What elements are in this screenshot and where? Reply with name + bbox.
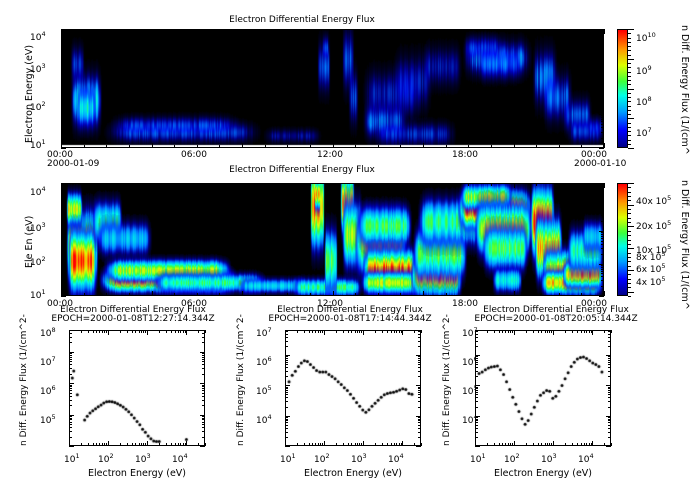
axis-tick — [418, 346, 421, 347]
axis-tick — [324, 441, 325, 446]
axis-tick — [601, 265, 604, 266]
axis-tick — [202, 374, 205, 375]
axis-tick — [61, 276, 64, 277]
axis-tick — [285, 356, 288, 357]
axis-tick — [382, 443, 383, 446]
axis-tick — [601, 215, 604, 216]
axis-tick — [69, 446, 74, 447]
axis-tick — [61, 244, 64, 245]
axis-tick — [475, 419, 478, 420]
axis-tick — [586, 443, 587, 446]
axis-tick — [61, 45, 66, 46]
axis-tick — [608, 394, 611, 395]
axis-tick — [285, 358, 288, 359]
spec2-ytick-1: 101 — [30, 288, 46, 301]
axis-tick — [333, 29, 334, 34]
spec2-cbtick-4: 4x 105 — [636, 275, 666, 288]
axis-tick — [491, 145, 492, 148]
axis-tick — [61, 280, 64, 281]
axis-tick — [581, 443, 582, 446]
colorbar-tick — [628, 67, 631, 68]
line3-xlabel: Electron Energy (eV) — [475, 468, 611, 479]
line2-ylabel: n Diff. Energy Flux (1/(cm^2- — [236, 314, 246, 446]
axis-tick — [505, 330, 506, 333]
axis-tick — [608, 420, 611, 421]
axis-tick — [61, 132, 64, 133]
axis-tick — [581, 29, 582, 32]
axis-tick — [159, 330, 160, 333]
axis-tick — [475, 346, 478, 347]
axis-tick — [61, 127, 64, 128]
axis-tick — [69, 374, 72, 375]
axis-tick — [69, 337, 72, 338]
axis-tick — [285, 397, 288, 398]
axis-tick — [514, 29, 515, 34]
colorbar-tick — [628, 296, 631, 297]
axis-tick — [601, 206, 604, 207]
axis-tick — [202, 357, 205, 358]
axis-tick — [592, 441, 593, 446]
axis-tick — [69, 342, 72, 343]
line3-ylabel: n Diff. Energy Flux (1/(cm^2- — [442, 314, 452, 446]
axis-tick — [343, 330, 344, 333]
axis-tick — [69, 416, 72, 417]
axis-tick — [61, 254, 64, 255]
axis-tick — [589, 443, 590, 446]
axis-tick — [61, 269, 64, 270]
axis-tick — [423, 29, 424, 34]
axis-tick — [475, 437, 478, 438]
colorbar-tick — [628, 110, 631, 111]
axis-tick — [391, 443, 392, 446]
axis-tick — [611, 443, 612, 446]
axis-tick — [399, 443, 400, 446]
axis-tick — [318, 443, 319, 446]
axis-tick — [601, 85, 604, 86]
axis-tick — [545, 443, 546, 446]
axis-tick — [343, 443, 344, 446]
axis-tick — [285, 346, 288, 347]
axis-tick — [608, 432, 611, 433]
line1-ytick-7: 107 — [40, 355, 56, 368]
axis-tick — [61, 53, 64, 54]
axis-tick — [183, 330, 184, 333]
axis-tick — [285, 441, 286, 446]
axis-tick — [120, 330, 121, 333]
axis-tick — [285, 420, 288, 421]
axis-tick — [69, 393, 72, 394]
axis-tick — [601, 121, 604, 122]
spec1-plot-area[interactable] — [61, 29, 604, 148]
axis-tick — [61, 208, 64, 209]
axis-tick — [285, 390, 288, 391]
axis-tick — [61, 231, 66, 232]
axis-tick — [61, 81, 64, 82]
axis-tick — [601, 221, 604, 222]
axis-tick — [69, 352, 74, 353]
axis-tick — [572, 330, 573, 333]
axis-tick — [108, 441, 109, 446]
colorbar-tick — [628, 270, 634, 271]
axis-tick — [475, 420, 478, 421]
axis-tick — [601, 211, 604, 212]
axis-tick — [608, 341, 611, 342]
axis-tick — [601, 119, 604, 120]
axis-tick — [601, 234, 604, 235]
axis-tick — [178, 330, 179, 333]
axis-tick — [348, 330, 349, 333]
axis-tick — [159, 443, 160, 446]
axis-tick — [601, 35, 604, 36]
axis-tick — [475, 367, 478, 368]
axis-tick — [468, 29, 469, 32]
axis-tick — [102, 330, 103, 333]
axis-tick — [601, 241, 604, 242]
axis-tick — [418, 420, 421, 421]
axis-tick — [475, 407, 478, 408]
axis-tick — [61, 204, 64, 205]
axis-tick — [396, 443, 397, 446]
axis-tick — [285, 432, 288, 433]
axis-tick — [475, 341, 478, 342]
colorbar-tick — [628, 114, 631, 115]
axis-tick — [287, 293, 288, 296]
axis-tick — [61, 286, 64, 287]
axis-tick — [84, 183, 85, 186]
axis-tick — [608, 358, 611, 359]
axis-tick — [559, 293, 560, 296]
colorbar-tick — [628, 42, 631, 43]
spec2-cbtick-20: 20x 105 — [636, 219, 671, 232]
line2-xtick-2: 102 — [314, 452, 330, 465]
axis-tick — [106, 293, 107, 296]
axis-tick — [396, 330, 397, 333]
axis-tick — [584, 330, 585, 333]
colorbar-tick — [628, 235, 631, 236]
axis-tick — [547, 443, 548, 446]
axis-tick — [61, 211, 64, 212]
axis-tick — [355, 145, 356, 148]
axis-tick — [541, 330, 542, 333]
axis-tick — [61, 183, 62, 188]
axis-tick — [106, 29, 107, 32]
axis-tick — [96, 330, 97, 333]
axis-tick — [183, 443, 184, 446]
axis-tick — [285, 437, 288, 438]
axis-tick — [475, 392, 478, 393]
axis-tick — [61, 238, 64, 239]
axis-tick — [355, 443, 356, 446]
axis-tick — [418, 371, 421, 372]
axis-tick — [475, 358, 478, 359]
axis-tick — [106, 145, 107, 148]
axis-tick — [285, 401, 288, 402]
axis-tick — [180, 330, 181, 333]
axis-tick — [265, 145, 266, 148]
axis-tick — [608, 376, 611, 377]
axis-tick — [336, 443, 337, 446]
axis-tick — [202, 364, 205, 365]
axis-tick — [61, 200, 64, 201]
axis-tick — [61, 189, 64, 190]
axis-tick — [601, 276, 604, 277]
axis-tick — [202, 359, 205, 360]
axis-tick — [200, 446, 205, 447]
axis-tick — [487, 330, 488, 333]
axis-tick — [242, 29, 243, 34]
line3-xtick-4: 104 — [578, 452, 594, 465]
axis-tick — [69, 400, 72, 401]
axis-tick — [242, 291, 243, 296]
line3-subtitle: EPOCH=2000-01-08T20:05:14.344Z — [461, 314, 651, 324]
axis-tick — [608, 367, 611, 368]
axis-tick — [601, 59, 604, 60]
axis-tick — [475, 401, 478, 402]
axis-tick — [418, 376, 421, 377]
axis-tick — [61, 59, 64, 60]
axis-tick — [601, 132, 604, 133]
axis-tick — [69, 386, 72, 387]
axis-tick — [152, 291, 153, 296]
axis-tick — [601, 200, 604, 201]
axis-tick — [186, 441, 187, 446]
axis-tick — [355, 29, 356, 32]
axis-tick — [549, 443, 550, 446]
axis-tick — [69, 364, 72, 365]
axis-tick — [608, 428, 611, 429]
axis-tick — [202, 333, 205, 334]
axis-tick — [69, 415, 74, 416]
axis-tick — [61, 265, 64, 266]
axis-tick — [475, 397, 478, 398]
colorbar-tick — [628, 266, 631, 267]
axis-tick — [61, 63, 64, 64]
axis-tick — [418, 419, 421, 420]
axis-tick — [219, 183, 220, 186]
line1-subtitle: EPOCH=2000-01-08T12:27:14.344Z — [38, 314, 228, 324]
axis-tick — [147, 441, 148, 446]
axis-tick — [285, 416, 290, 417]
axis-tick — [599, 45, 604, 46]
axis-tick — [285, 341, 288, 342]
axis-tick — [61, 29, 62, 34]
axis-tick — [108, 330, 109, 335]
axis-tick — [171, 330, 172, 333]
axis-tick — [468, 183, 469, 186]
axis-tick — [581, 293, 582, 296]
axis-tick — [418, 437, 421, 438]
axis-tick — [402, 330, 403, 335]
colorbar-tick — [628, 205, 634, 206]
colorbar-tick — [628, 279, 631, 280]
axis-tick — [61, 51, 64, 52]
axis-tick — [601, 202, 604, 203]
line2-plot-area[interactable] — [285, 330, 421, 446]
axis-tick — [61, 267, 64, 268]
axis-tick — [601, 56, 604, 57]
axis-tick — [61, 234, 64, 235]
axis-tick — [102, 443, 103, 446]
line1-xlabel: Electron Energy (eV) — [69, 468, 205, 479]
axis-tick — [418, 392, 421, 393]
axis-tick — [69, 383, 74, 384]
spec2-plot-area[interactable] — [61, 183, 604, 296]
axis-tick — [581, 145, 582, 148]
line1-xtick-4: 104 — [172, 452, 188, 465]
line1-ytick-5: 105 — [40, 413, 56, 426]
axis-tick — [416, 416, 421, 417]
axis-tick — [608, 346, 611, 347]
axis-tick — [608, 425, 611, 426]
axis-tick — [202, 355, 205, 356]
axis-tick — [141, 330, 142, 333]
axis-tick — [387, 443, 388, 446]
axis-tick — [285, 376, 288, 377]
axis-tick — [418, 388, 421, 389]
axis-tick — [61, 232, 64, 233]
axis-tick — [99, 443, 100, 446]
axis-tick — [606, 385, 611, 386]
axis-tick — [197, 29, 198, 32]
axis-tick — [418, 360, 421, 361]
axis-tick — [120, 443, 121, 446]
axis-tick — [378, 183, 379, 186]
colorbar-tick — [628, 222, 631, 223]
axis-tick — [285, 407, 288, 408]
axis-tick — [508, 330, 509, 333]
axis-tick — [69, 359, 72, 360]
axis-tick — [446, 145, 447, 148]
axis-tick — [577, 443, 578, 446]
axis-tick — [287, 145, 288, 148]
line1-plot-area[interactable] — [69, 330, 205, 446]
axis-tick — [61, 291, 62, 296]
axis-tick — [601, 87, 604, 88]
axis-tick — [601, 271, 604, 272]
axis-tick — [61, 241, 64, 242]
axis-tick — [608, 422, 611, 423]
colorbar-tick — [628, 131, 631, 132]
axis-tick — [152, 183, 153, 188]
axis-tick — [599, 264, 604, 265]
axis-tick — [446, 293, 447, 296]
axis-tick — [178, 443, 179, 446]
axis-tick — [599, 231, 604, 232]
axis-tick — [202, 431, 205, 432]
axis-tick — [180, 443, 181, 446]
axis-tick — [491, 293, 492, 296]
axis-tick — [336, 330, 337, 333]
axis-tick — [375, 330, 376, 333]
axis-tick — [297, 330, 298, 333]
colorbar-tick — [628, 192, 631, 193]
axis-tick — [315, 443, 316, 446]
colorbar-tick — [628, 63, 631, 64]
axis-tick — [141, 443, 142, 446]
axis-tick — [202, 419, 205, 420]
axis-tick — [414, 443, 415, 446]
axis-tick — [418, 401, 421, 402]
axis-tick — [106, 183, 107, 186]
axis-tick — [297, 443, 298, 446]
axis-tick — [132, 443, 133, 446]
axis-tick — [601, 69, 604, 70]
axis-tick — [604, 291, 605, 296]
axis-tick — [418, 358, 421, 359]
colorbar-tick — [628, 240, 631, 241]
axis-tick — [175, 443, 176, 446]
axis-tick — [601, 267, 604, 268]
axis-tick — [418, 367, 421, 368]
axis-tick — [418, 422, 421, 423]
axis-tick — [104, 330, 105, 333]
axis-tick — [400, 183, 401, 186]
axis-tick — [265, 183, 266, 186]
axis-tick — [418, 390, 421, 391]
axis-tick — [202, 424, 205, 425]
axis-tick — [202, 400, 205, 401]
colorbar-tick — [628, 187, 631, 188]
axis-tick — [351, 443, 352, 446]
axis-tick — [198, 443, 199, 446]
colorbar-tick — [628, 144, 631, 145]
axis-tick — [69, 441, 70, 446]
axis-tick — [174, 183, 175, 186]
axis-tick — [601, 208, 604, 209]
colorbar-tick — [628, 209, 631, 210]
axis-tick — [608, 397, 611, 398]
axis-tick — [446, 183, 447, 186]
axis-tick — [285, 367, 288, 368]
axis-tick — [475, 362, 478, 363]
axis-tick — [242, 143, 243, 148]
axis-tick — [69, 388, 72, 389]
axis-tick — [285, 392, 288, 393]
axis-tick — [608, 334, 611, 335]
axis-tick — [285, 446, 290, 447]
axis-tick — [285, 330, 286, 335]
axis-tick — [205, 443, 206, 446]
axis-tick — [538, 443, 539, 446]
axis-tick — [608, 371, 611, 372]
axis-tick — [61, 271, 64, 272]
axis-tick — [475, 376, 478, 377]
axis-tick — [475, 385, 480, 386]
colorbar-tick — [628, 292, 634, 293]
axis-tick — [202, 418, 205, 419]
axis-tick — [84, 293, 85, 296]
spec1-ytick-3: 103 — [30, 62, 46, 75]
axis-tick — [61, 206, 64, 207]
axis-tick — [355, 183, 356, 186]
spec1-cbtick-8: 108 — [636, 95, 652, 108]
axis-tick — [475, 422, 478, 423]
axis-tick — [418, 417, 421, 418]
axis-tick — [499, 443, 500, 446]
axis-tick — [581, 330, 582, 333]
axis-tick — [61, 87, 64, 88]
axis-tick — [285, 417, 288, 418]
line3-plot-area[interactable] — [475, 330, 611, 446]
colorbar-tick — [628, 148, 634, 149]
axis-tick — [357, 443, 358, 446]
colorbar-tick — [628, 59, 634, 60]
spec1-xtick-3: 18:00 — [452, 150, 478, 160]
axis-tick — [599, 114, 604, 115]
colorbar-tick — [628, 97, 631, 98]
axis-tick — [565, 443, 566, 446]
axis-tick — [547, 330, 548, 333]
